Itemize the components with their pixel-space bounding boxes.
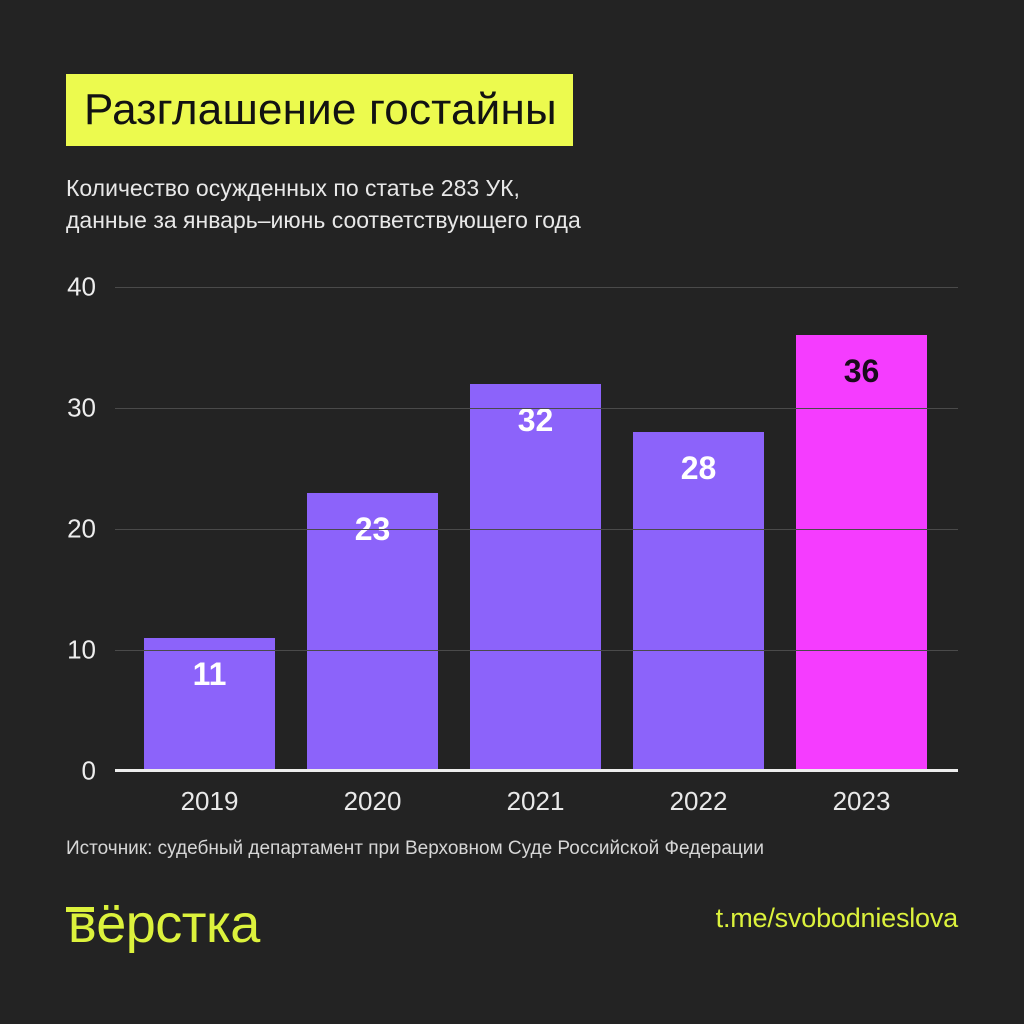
x-axis-tick-label: 2022 bbox=[633, 786, 764, 817]
bar-2022[interactable]: 28 bbox=[633, 432, 764, 771]
y-axis-tick-label: 0 bbox=[26, 756, 96, 787]
gridline bbox=[115, 287, 958, 288]
gridline bbox=[115, 529, 958, 530]
y-axis-tick-label: 10 bbox=[26, 635, 96, 666]
y-axis-tick-label: 40 bbox=[26, 272, 96, 303]
bar-2021[interactable]: 32 bbox=[470, 384, 601, 771]
bar-value-label: 28 bbox=[633, 452, 764, 484]
bar-value-label: 36 bbox=[796, 355, 927, 387]
bar-chart: 1123322836 010203040 2019202020212022202… bbox=[0, 0, 1024, 1024]
gridline bbox=[115, 650, 958, 651]
x-axis-tick-label: 2023 bbox=[796, 786, 927, 817]
gridline bbox=[115, 408, 958, 409]
bar-2020[interactable]: 23 bbox=[307, 493, 438, 771]
x-axis-tick-label: 2020 bbox=[307, 786, 438, 817]
bar-2019[interactable]: 11 bbox=[144, 638, 275, 771]
bar-value-label: 11 bbox=[144, 658, 275, 690]
bar-2023[interactable]: 36 bbox=[796, 335, 927, 771]
x-axis-tick-label: 2021 bbox=[470, 786, 601, 817]
x-axis-tick-label: 2019 bbox=[144, 786, 275, 817]
verstka-logo: вёрстка bbox=[66, 897, 260, 957]
plot-area: 1123322836 bbox=[115, 287, 958, 771]
telegram-handle[interactable]: t.me/svobodnieslova bbox=[716, 903, 958, 934]
x-axis-baseline bbox=[115, 769, 958, 772]
y-axis-tick-label: 20 bbox=[26, 514, 96, 545]
source-note: Источник: судебный департамент при Верхо… bbox=[66, 838, 764, 860]
infographic-root: Разглашение гостайны Количество осужденн… bbox=[0, 0, 1024, 1024]
logo-accent-bar bbox=[66, 907, 94, 912]
logo-text: вёрстка bbox=[68, 897, 260, 951]
y-axis-tick-label: 30 bbox=[26, 393, 96, 424]
